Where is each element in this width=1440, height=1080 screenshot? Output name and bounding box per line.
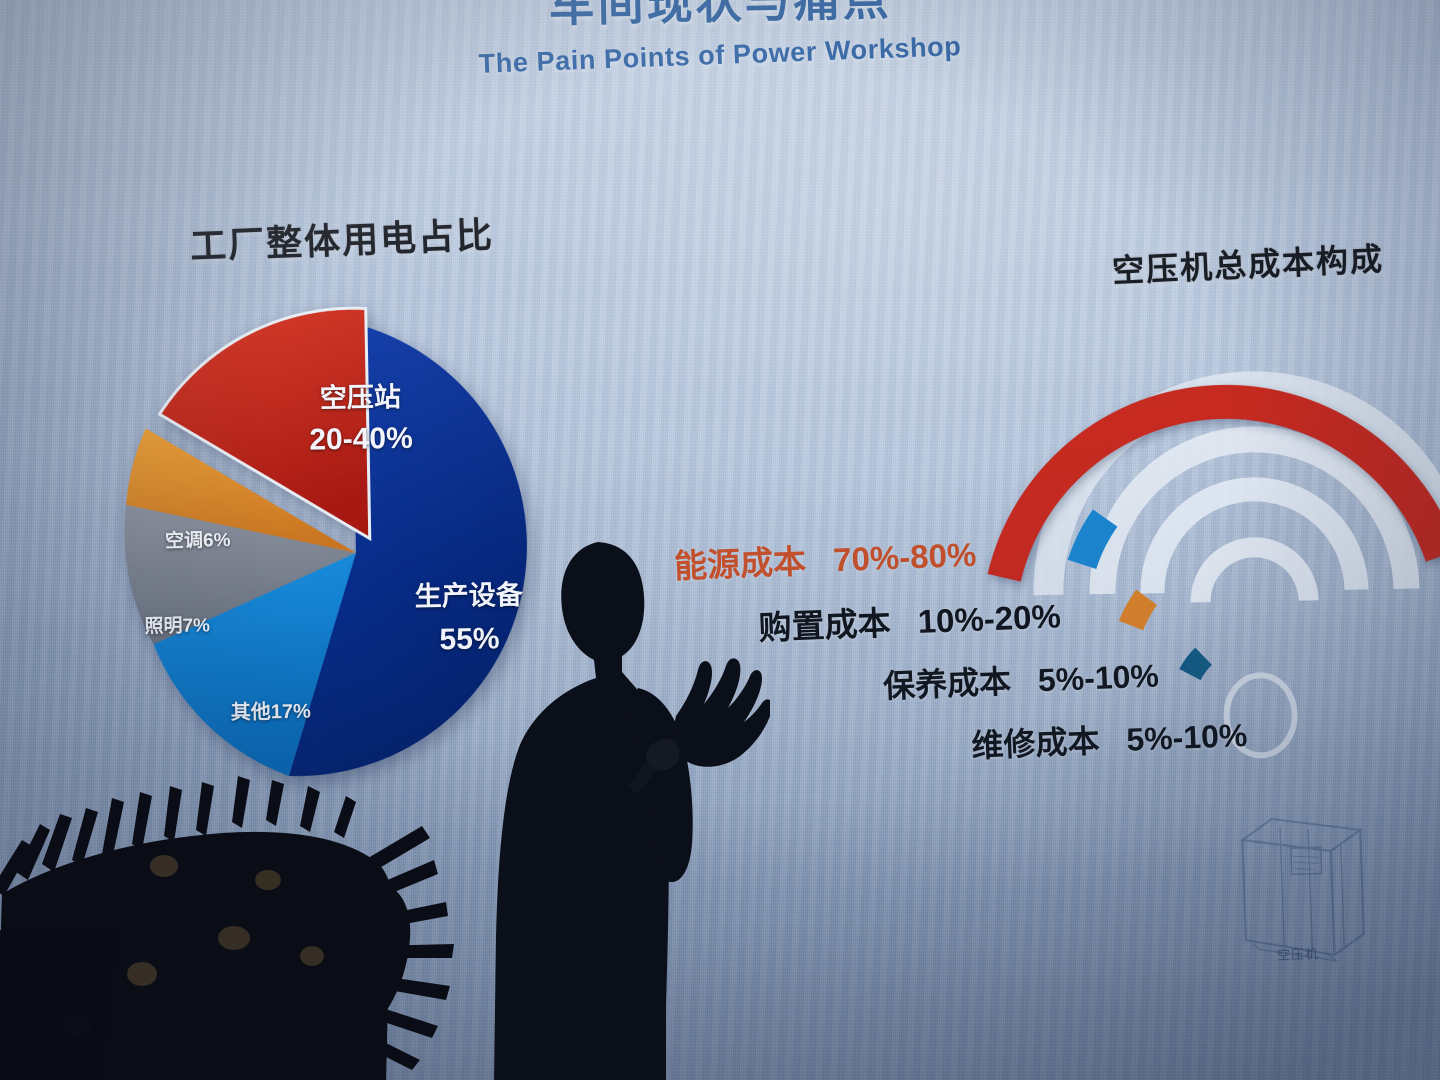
cost-row-maintenance: 保养成本 5%-10%: [660, 646, 1281, 717]
cost-label-repair: 维修成本: [971, 723, 1100, 764]
cost-breakdown-list: 能源成本 70%-80% 购置成本 10%-20% 保养成本 5%-10% 维修…: [655, 516, 1285, 797]
cost-row-purchase: 购置成本 10%-20%: [658, 581, 1279, 654]
pie-svg: [103, 284, 582, 822]
cost-value-maintenance: 5%-10%: [1037, 657, 1159, 698]
right-chart-title: 空压机总成本构成: [1111, 234, 1385, 292]
cost-label-energy: 能源成本: [673, 543, 806, 585]
cost-value-purchase: 10%-20%: [917, 597, 1061, 640]
cost-value-repair: 5%-10%: [1126, 717, 1248, 758]
presentation-photo: 车间现状与痛点 The Pain Points of Power Worksho…: [0, 0, 1440, 1080]
cost-row-repair: 维修成本 5%-10%: [663, 709, 1284, 780]
podium-silhouette: [0, 930, 118, 1080]
factory-power-pie-chart: 空压站 20-40% 生产设备 55% 空调6% 照明7% 其他17%: [103, 284, 582, 822]
cost-row-energy: 能源成本 70%-80%: [655, 516, 1276, 589]
cost-label-purchase: 购置成本: [758, 604, 891, 646]
left-chart-title: 工厂整体用电占比: [189, 206, 495, 270]
cost-value-energy: 70%-80%: [832, 536, 976, 579]
cost-label-maintenance: 保养成本: [882, 663, 1011, 704]
